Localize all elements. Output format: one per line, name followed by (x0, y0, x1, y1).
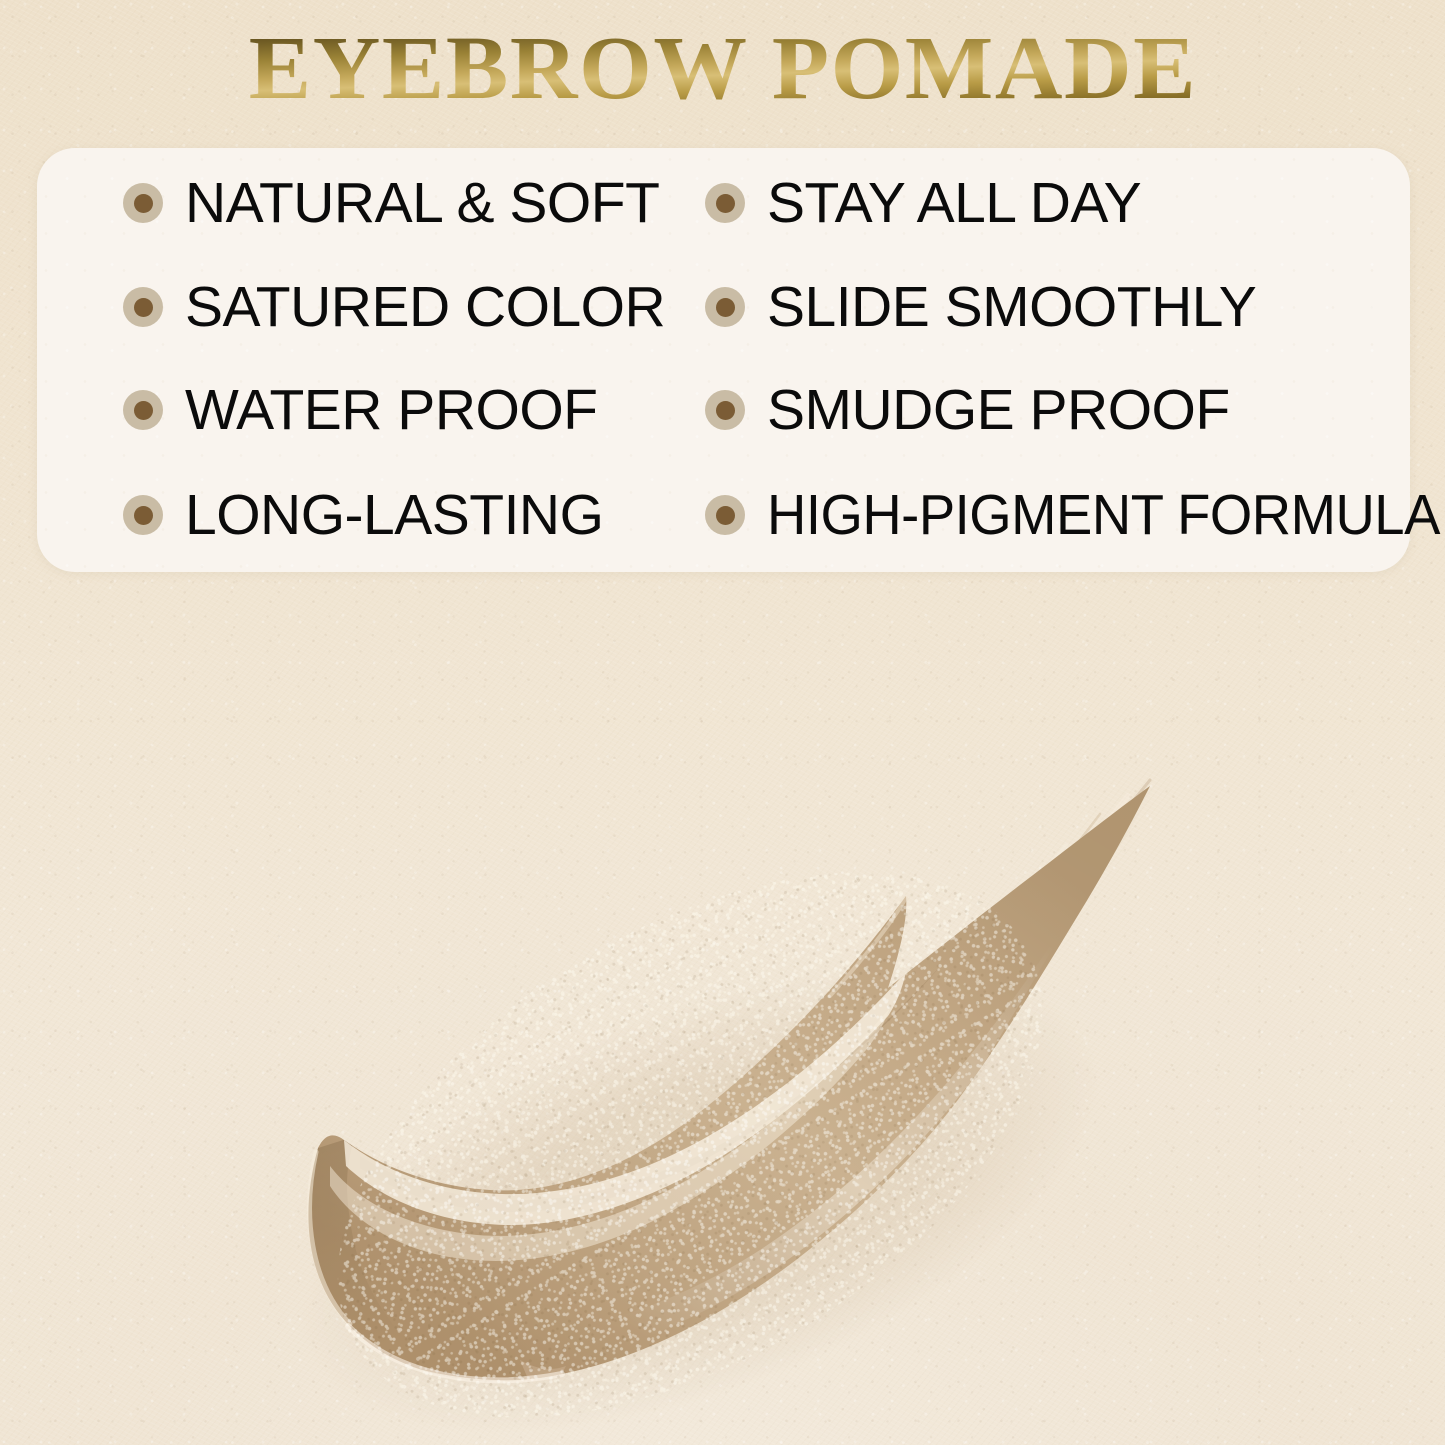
feature-label: SATURED COLOR (185, 279, 665, 336)
feature-label: LONG-LASTING (185, 487, 603, 544)
feature-item-water-proof: WATER PROOF (123, 375, 597, 445)
feature-list: NATURAL & SOFT SATURED COLOR WATER PROOF… (37, 148, 1410, 572)
feature-item-stay-all-day: STAY ALL DAY (705, 168, 1141, 238)
feature-label: WATER PROOF (185, 382, 597, 439)
bullet-dot-icon (123, 287, 163, 327)
bullet-dot-icon (123, 495, 163, 535)
feature-item-long-lasting: LONG-LASTING (123, 480, 603, 550)
bullet-dot-icon (123, 390, 163, 430)
feature-item-smudge-proof: SMUDGE PROOF (705, 375, 1230, 445)
feature-label: SLIDE SMOOTHLY (767, 279, 1256, 336)
feature-label: STAY ALL DAY (767, 175, 1141, 232)
bullet-dot-icon (705, 390, 745, 430)
feature-list-card: NATURAL & SOFT SATURED COLOR WATER PROOF… (37, 148, 1410, 572)
bullet-dot-icon (123, 183, 163, 223)
feature-label: SMUDGE PROOF (767, 382, 1230, 439)
product-swatch (0, 600, 1445, 1445)
bullet-dot-icon (705, 287, 745, 327)
swatch-artwork (0, 600, 1445, 1445)
feature-item-high-pigment-formula: HIGH-PIGMENT FORMULA (705, 480, 1445, 550)
feature-item-satured-color: SATURED COLOR (123, 272, 665, 342)
feature-item-slide-smoothly: SLIDE SMOOTHLY (705, 272, 1256, 342)
bullet-dot-icon (705, 183, 745, 223)
product-feature-graphic: EYEBROW POMADE NATURAL & SOFT SATURED CO… (0, 0, 1445, 1445)
page-title-container: EYEBROW POMADE (0, 24, 1445, 114)
bullet-dot-icon (705, 495, 745, 535)
feature-label: HIGH-PIGMENT FORMULA (767, 487, 1440, 544)
feature-item-natural-soft: NATURAL & SOFT (123, 168, 659, 238)
feature-label: NATURAL & SOFT (185, 175, 659, 232)
page-title: EYEBROW POMADE (248, 24, 1196, 114)
